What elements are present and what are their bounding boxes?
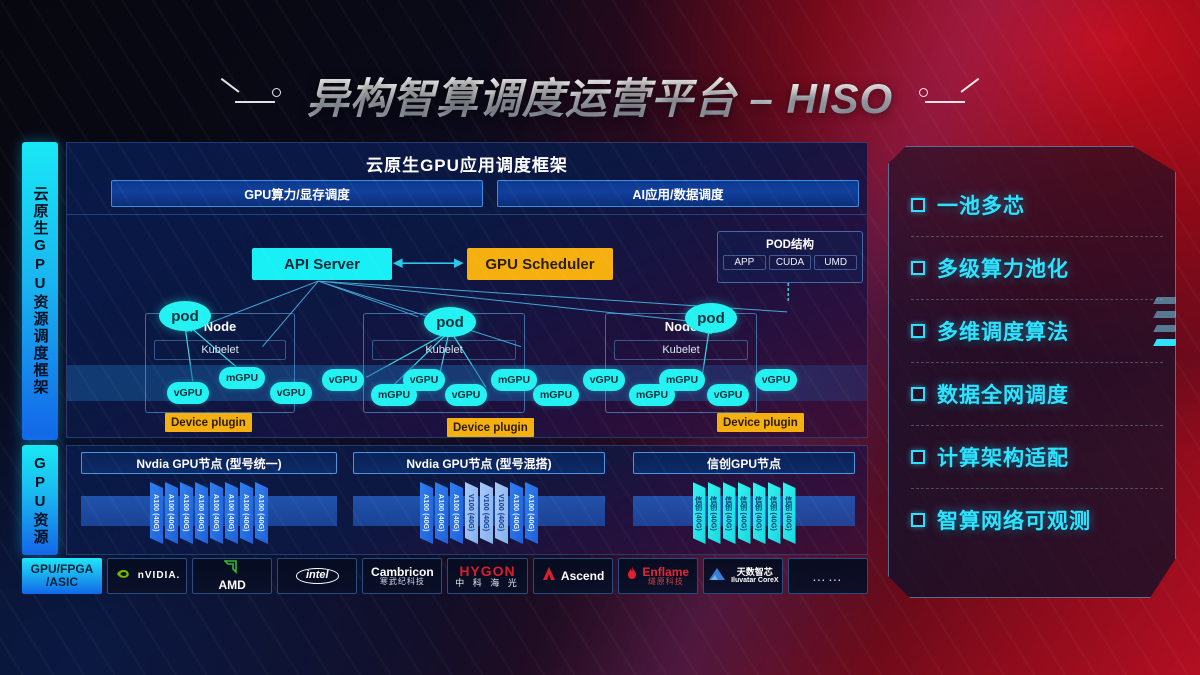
feature-label: 多级算力池化 [937, 253, 1069, 283]
architecture-diagram: 云原生GPU资源调度框架 GPU资源 云原生GPU应用调度框架 GPU算力/显存… [22, 142, 868, 607]
kubelet-bar: Kubelet [154, 340, 286, 360]
iluvatar-mountain-icon [707, 567, 727, 586]
checkbox-icon [911, 513, 925, 527]
device-plugin-tag[interactable]: Device plugin [447, 418, 534, 437]
gpu-card-label: A100 (40G) [198, 494, 205, 532]
gpu-card[interactable]: 信创 (40G) [783, 482, 796, 544]
feature-label: 一池多芯 [937, 190, 1025, 220]
gpu-card[interactable]: A100 (40G) [255, 482, 268, 544]
feature-list-panel: 一池多芯 多级算力池化 多维调度算法 数据全网调度 计算架构适配 智算网络可观测 [888, 146, 1176, 598]
gpu-card[interactable]: A100 (40G) [225, 482, 238, 544]
vgpu-chip[interactable]: mGPU [533, 384, 579, 406]
vendor-name-cn: 燧原科技 [648, 578, 684, 586]
nvidia-eye-icon [114, 567, 134, 586]
gpu-node-group: Nvdia GPU节点 (型号混搭) A100 (40G) A100 (40G)… [353, 452, 605, 550]
vendor-more[interactable]: …… [788, 558, 868, 594]
framework-bar-compute[interactable]: GPU算力/显存调度 [111, 180, 483, 207]
gpu-card-list: A100 (40G) A100 (40G) A100 (40G) A100 (4… [81, 482, 337, 546]
gpu-card-label: V100 (40G) [483, 494, 490, 531]
gpu-resource-panel: Nvdia GPU节点 (型号统一) A100 (40G) A100 (40G)… [66, 445, 868, 555]
gpu-card-label: 信创 (40G) [755, 496, 762, 531]
framework-bar-ai[interactable]: AI应用/数据调度 [497, 180, 859, 207]
gpu-card-label: A100 (40G) [453, 494, 460, 532]
gpu-card-label: 信创 (40G) [740, 496, 747, 531]
gpu-card[interactable]: V100 (40G) [465, 482, 478, 544]
gpu-card-label: 信创 (40G) [785, 496, 792, 531]
gpu-node-header: Nvdia GPU节点 (型号混搭) [353, 452, 605, 474]
vendor-hygon[interactable]: HYGON 中 科 海 光 [447, 558, 527, 594]
vendor-name: 天数智芯 Iluvatar CoreX [731, 568, 778, 585]
vgpu-chip[interactable]: vGPU [755, 369, 797, 391]
vendor-name-en: 天数智芯 [737, 568, 773, 577]
panel-stripe-decoration [1155, 297, 1177, 389]
vendor-iluvatar[interactable]: 天数智芯 Iluvatar CoreX [703, 558, 783, 594]
vendor-category-label: GPU/FPGA /ASIC [22, 558, 102, 594]
checkbox-icon [911, 450, 925, 464]
gpu-card-label: A100 (40G) [258, 494, 265, 532]
vgpu-chip[interactable]: vGPU [167, 382, 209, 404]
feature-item[interactable]: 智算网络可观测 [911, 488, 1163, 551]
gpu-card-label: 信创 (40G) [710, 496, 717, 531]
feature-item[interactable]: 数据全网调度 [911, 362, 1163, 425]
gpu-card[interactable]: A100 (40G) [180, 482, 193, 544]
title-decoration-left-icon [229, 75, 285, 115]
feature-label: 数据全网调度 [937, 379, 1069, 409]
kubelet-bar: Kubelet [614, 340, 748, 360]
vgpu-chip[interactable]: vGPU [707, 384, 749, 406]
gpu-card[interactable]: A100 (40G) [450, 482, 463, 544]
vendor-name: Cambricon 寒武纪科技 [371, 566, 434, 587]
gpu-node-header: Nvdia GPU节点 (型号统一) [81, 452, 337, 474]
gpu-card[interactable]: 信创 (40G) [768, 482, 781, 544]
api-server-node[interactable]: API Server [252, 248, 392, 280]
vgpu-chip[interactable]: vGPU [445, 384, 487, 406]
vendor-nvidia[interactable]: nVIDIA. [107, 558, 187, 594]
gpu-card-label: A100 (40G) [423, 494, 430, 532]
vendor-category-line2: /ASIC [46, 576, 78, 589]
device-plugin-tag[interactable]: Device plugin [165, 413, 252, 432]
vendor-logo-bar: GPU/FPGA /ASIC nVIDIA. AMD intel [22, 558, 868, 594]
checkbox-icon [911, 324, 925, 338]
vendor-name-cn: 寒武纪科技 [380, 578, 425, 586]
vendor-name-en: AMD [219, 579, 246, 592]
checkbox-icon [911, 261, 925, 275]
feature-label: 智算网络可观测 [937, 505, 1091, 535]
pod-ellipse[interactable]: pod [685, 303, 737, 333]
vgpu-chip[interactable]: vGPU [322, 369, 364, 391]
vendor-name-en: nVIDIA. [138, 571, 181, 582]
gpu-card[interactable]: 信创 (40G) [693, 482, 706, 544]
framework-header: 云原生GPU应用调度框架 GPU算力/显存调度 AI应用/数据调度 [67, 143, 867, 215]
gpu-node-header: 信创GPU节点 [633, 452, 855, 474]
gpu-card[interactable]: A100 (40G) [240, 482, 253, 544]
sidelabel-framework: 云原生GPU资源调度框架 [22, 142, 58, 440]
vendor-name: nVIDIA. [138, 571, 181, 582]
vendor-name-cn: Iluvatar CoreX [731, 577, 778, 584]
gpu-card[interactable]: A100 (40G) [165, 482, 178, 544]
vgpu-chip[interactable]: vGPU [270, 382, 312, 404]
gpu-card-label: 信创 (40G) [695, 496, 702, 531]
gpu-card[interactable]: A100 (40G) [150, 482, 163, 544]
vendor-name-en: HYGON [459, 564, 515, 579]
amd-arrow-icon [224, 560, 240, 579]
page-title: 异构智算调度运营平台 – HISO [307, 65, 893, 126]
sidelabel-gpu-resource: GPU资源 [22, 445, 58, 555]
gpu-card[interactable]: 信创 (40G) [708, 482, 721, 544]
vendor-name: Enflame 燧原科技 [642, 566, 689, 587]
pod-ellipse[interactable]: pod [159, 301, 211, 331]
gpu-card-label: A100 (40G) [528, 494, 535, 532]
gpu-node-group: 信创GPU节点 信创 (40G) 信创 (40G) 信创 (40G) 信创 (4… [633, 452, 855, 550]
pod-ellipse[interactable]: pod [424, 307, 476, 337]
feature-label: 多维调度算法 [937, 316, 1069, 346]
framework-panel: 云原生GPU应用调度框架 GPU算力/显存调度 AI应用/数据调度 [66, 142, 868, 438]
gpu-card-label: A100 (40G) [513, 494, 520, 532]
vgpu-chip[interactable]: mGPU [491, 369, 537, 391]
slide-title-bar: 异构智算调度运营平台 – HISO [0, 62, 1200, 128]
gpu-card-label: 信创 (40G) [725, 496, 732, 531]
vendor-name: Ascend [561, 570, 604, 583]
gpu-card[interactable]: A100 (40G) [210, 482, 223, 544]
gpu-card-label: A100 (40G) [153, 494, 160, 532]
kubelet-bar: Kubelet [372, 340, 516, 360]
gpu-card[interactable]: 信创 (40G) [723, 482, 736, 544]
gpu-card-list: 信创 (40G) 信创 (40G) 信创 (40G) 信创 (40G) 信创 (… [633, 482, 855, 546]
gpu-card[interactable]: A100 (40G) [195, 482, 208, 544]
vgpu-chip[interactable]: mGPU [219, 367, 265, 389]
gpu-card[interactable]: A100 (40G) [420, 482, 433, 544]
gpu-card[interactable]: A100 (40G) [510, 482, 523, 544]
gpu-card[interactable]: V100 (40G) [495, 482, 508, 544]
feature-item[interactable]: 多级算力池化 [911, 236, 1163, 299]
gpu-card-label: A100 (40G) [213, 494, 220, 532]
slide-canvas: 异构智算调度运营平台 – HISO 云原生GPU资源调度框架 GPU资源 云原生… [0, 0, 1200, 675]
gpu-card-label: V100 (40G) [498, 494, 505, 531]
vendor-name: intel [296, 568, 339, 584]
checkbox-icon [911, 387, 925, 401]
pod-cell-umd: UMD [814, 255, 857, 270]
gpu-card-label: A100 (40G) [228, 494, 235, 532]
vendor-amd[interactable]: AMD [192, 558, 272, 594]
vendor-enflame[interactable]: Enflame 燧原科技 [618, 558, 698, 594]
device-plugin-tag[interactable]: Device plugin [717, 413, 804, 432]
enflame-flame-icon [626, 566, 638, 586]
ascend-mark-icon [541, 566, 557, 586]
feature-item[interactable]: 一池多芯 [911, 173, 1163, 236]
vendor-cambricon[interactable]: Cambricon 寒武纪科技 [362, 558, 442, 594]
vendor-name: AMD [219, 560, 246, 591]
gpu-card[interactable]: V100 (40G) [480, 482, 493, 544]
pod-structure-box: POD结构 APP CUDA UMD [717, 231, 863, 283]
feature-item[interactable]: 多维调度算法 [911, 299, 1163, 362]
gpu-card-label: A100 (40G) [183, 494, 190, 532]
framework-heading: 云原生GPU应用调度框架 [67, 151, 867, 176]
gpu-scheduler-node[interactable]: GPU Scheduler [467, 248, 613, 280]
vgpu-chip[interactable]: vGPU [403, 369, 445, 391]
pod-cell-app: APP [723, 255, 766, 270]
gpu-card[interactable]: A100 (40G) [435, 482, 448, 544]
gpu-node-group: Nvdia GPU节点 (型号统一) A100 (40G) A100 (40G)… [81, 452, 337, 550]
vendor-ascend[interactable]: Ascend [533, 558, 613, 594]
gpu-card-label: 信创 (40G) [770, 496, 777, 531]
gpu-card-label: A100 (40G) [438, 494, 445, 532]
gpu-card[interactable]: 信创 (40G) [738, 482, 751, 544]
title-decoration-right-icon [915, 75, 971, 115]
pod-structure-title: POD结构 [718, 236, 862, 252]
feature-item[interactable]: 计算架构适配 [911, 425, 1163, 488]
gpu-card-list: A100 (40G) A100 (40G) A100 (40G) V100 (4… [353, 482, 605, 546]
feature-label: 计算架构适配 [937, 442, 1069, 472]
checkbox-icon [911, 198, 925, 212]
vgpu-chip[interactable]: mGPU [659, 369, 705, 391]
pod-cell-cuda: CUDA [769, 255, 812, 270]
gpu-card[interactable]: 信创 (40G) [753, 482, 766, 544]
vendor-more-dots: …… [812, 568, 844, 584]
gpu-card-label: A100 (40G) [168, 494, 175, 532]
vgpu-chip[interactable]: vGPU [583, 369, 625, 391]
vendor-intel[interactable]: intel [277, 558, 357, 594]
vendor-name-en: intel [306, 570, 329, 582]
vendor-name-cn: 中 科 海 光 [455, 579, 520, 588]
gpu-card[interactable]: A100 (40G) [525, 482, 538, 544]
panel-corner-accent [897, 599, 978, 605]
gpu-card-label: V100 (40G) [468, 494, 475, 531]
vendor-name-en: Ascend [561, 570, 604, 583]
vendor-name: HYGON 中 科 海 光 [455, 564, 520, 588]
gpu-card-label: A100 (40G) [243, 494, 250, 532]
